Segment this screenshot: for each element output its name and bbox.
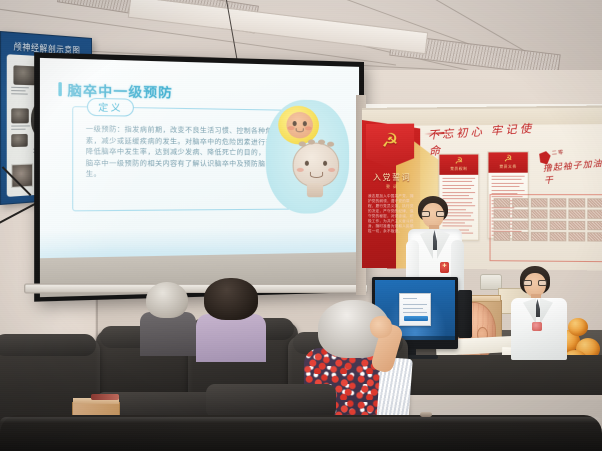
poster-caption-line bbox=[11, 129, 25, 130]
poster-caption-line bbox=[11, 90, 25, 91]
desk-equipment bbox=[458, 290, 472, 338]
chair-headrest bbox=[0, 334, 96, 356]
poster-caption-line bbox=[11, 93, 27, 94]
slide-definition-label: 定义 bbox=[87, 98, 134, 117]
glasses-lens bbox=[538, 280, 547, 286]
nerve-diagram-icon bbox=[11, 108, 29, 123]
blush-mark bbox=[328, 168, 335, 172]
eye-icon bbox=[293, 121, 297, 126]
eyeglasses-icon bbox=[421, 211, 445, 217]
photo-thumbnail bbox=[494, 232, 511, 241]
hair-tuft bbox=[299, 141, 306, 146]
photo-thumbnail bbox=[550, 221, 567, 230]
poster-caption-line bbox=[11, 87, 29, 89]
photo-thumbnail bbox=[512, 232, 529, 241]
photo-thumbnail bbox=[550, 209, 567, 218]
photo-thumbnail bbox=[568, 210, 585, 219]
hammer-and-sickle-icon: ☭ bbox=[455, 157, 463, 166]
photo-thumbnail bbox=[531, 232, 548, 241]
blush-mark bbox=[297, 168, 304, 172]
ceiling-light-panel bbox=[128, 0, 428, 54]
hair-tuft bbox=[308, 139, 315, 144]
slide-illustration bbox=[266, 99, 349, 214]
photo-thumbnail bbox=[587, 221, 602, 230]
poster-caption-line bbox=[11, 125, 30, 126]
mouth-icon bbox=[296, 128, 304, 132]
glasses-lens bbox=[421, 211, 430, 217]
eyeglasses-icon bbox=[523, 280, 547, 286]
lecture-room-photo: 颅神经解剖示意图 bbox=[0, 0, 602, 451]
audience-hair bbox=[204, 278, 258, 320]
hair-tuft bbox=[318, 140, 325, 145]
seated-staff-member bbox=[508, 266, 572, 362]
party-oath-title: 入党誓词 bbox=[370, 172, 414, 183]
blush-mark bbox=[305, 126, 312, 130]
badge-emblem-icon: ✚ bbox=[442, 264, 446, 269]
photo-thumbnail bbox=[512, 221, 529, 230]
slide-title-accent-bar bbox=[58, 82, 61, 96]
photo-thumbnail bbox=[494, 209, 511, 218]
cartoon-upper-face bbox=[286, 112, 313, 139]
audience-torso bbox=[140, 312, 196, 356]
table-edge-highlight bbox=[0, 417, 602, 423]
staff-badge bbox=[532, 322, 542, 331]
hair-tuft bbox=[327, 142, 334, 147]
party-display-board: ☭ 入党誓词 誓 词 我志愿加入中国共产党，拥护党的纲领，遵守党的章程，履行党员… bbox=[362, 106, 602, 271]
nerve-diagram-icon bbox=[11, 134, 27, 147]
photo-grid bbox=[494, 198, 602, 241]
projection-screen-surface: 脑卒中一级预防 定义 一级预防：指发病前期，改变不良生活习惯、控制各种危险因素，… bbox=[40, 58, 359, 297]
audience-torso bbox=[196, 314, 266, 362]
board-card-title: 党员权利 bbox=[439, 167, 478, 172]
photo-thumbnail bbox=[531, 209, 548, 218]
photo-thumbnail bbox=[531, 221, 548, 230]
photo-thumbnail bbox=[568, 221, 585, 230]
board-calligraphy-small: 二零 bbox=[551, 149, 564, 157]
audience-elderly-gray-hair bbox=[140, 282, 196, 352]
mouth-icon bbox=[310, 172, 323, 178]
blush-mark bbox=[287, 126, 294, 130]
glasses-lens bbox=[523, 280, 532, 286]
audience-dark-hair bbox=[196, 278, 266, 356]
presentation-slide: 脑卒中一级预防 定义 一级预防：指发病前期，改变不良生活习惯、控制各种危险因素，… bbox=[40, 58, 359, 258]
photo-thumbnail bbox=[587, 198, 602, 207]
hospital-badge: ✚ bbox=[440, 262, 449, 273]
crate-contents bbox=[91, 394, 119, 400]
photo-thumbnail bbox=[512, 198, 529, 207]
photo-thumbnail bbox=[494, 198, 511, 207]
photo-thumbnail bbox=[550, 198, 567, 207]
board-card-title: 党员义务 bbox=[488, 165, 527, 170]
chair-armrest bbox=[206, 384, 336, 418]
foreground-table-edge bbox=[0, 415, 602, 451]
photo-thumbnail bbox=[587, 210, 602, 219]
photo-thumbnail bbox=[531, 198, 548, 207]
slide-definition-text: 一级预防：指发病前期，改变不良生活习惯、控制各种危险因素，减少或延缓疾病的发生。… bbox=[86, 125, 295, 181]
photo-thumbnail bbox=[550, 232, 567, 241]
photo-thumbnail bbox=[512, 209, 529, 218]
cartoon-neck bbox=[307, 183, 323, 197]
board-card-header: ☭ 党员义务 bbox=[488, 152, 527, 172]
hammer-and-sickle-icon: ☭ bbox=[381, 132, 398, 151]
board-card-header: ☭ 党员权利 bbox=[439, 155, 478, 175]
audience-hair bbox=[146, 282, 188, 318]
board-calligraphy: 撸起袖子加油干 bbox=[542, 157, 602, 187]
photo-thumbnail bbox=[587, 232, 602, 241]
glasses-lens bbox=[436, 211, 445, 217]
poster-photo bbox=[11, 163, 33, 188]
eye-icon bbox=[323, 161, 327, 166]
chair-hardware bbox=[420, 412, 432, 417]
eye-icon bbox=[305, 161, 309, 166]
party-oath-subtitle: 誓 词 bbox=[370, 184, 414, 190]
photo-thumbnail bbox=[568, 198, 585, 207]
projection-screen: 脑卒中一级预防 定义 一级预防：指发病前期，改变不良生活习惯、控制各种危险因素，… bbox=[34, 52, 364, 301]
photo-thumbnail bbox=[494, 221, 511, 230]
photo-thumbnail bbox=[568, 232, 585, 241]
cartoon-head bbox=[293, 142, 340, 187]
hammer-and-sickle-icon: ☭ bbox=[504, 154, 512, 163]
